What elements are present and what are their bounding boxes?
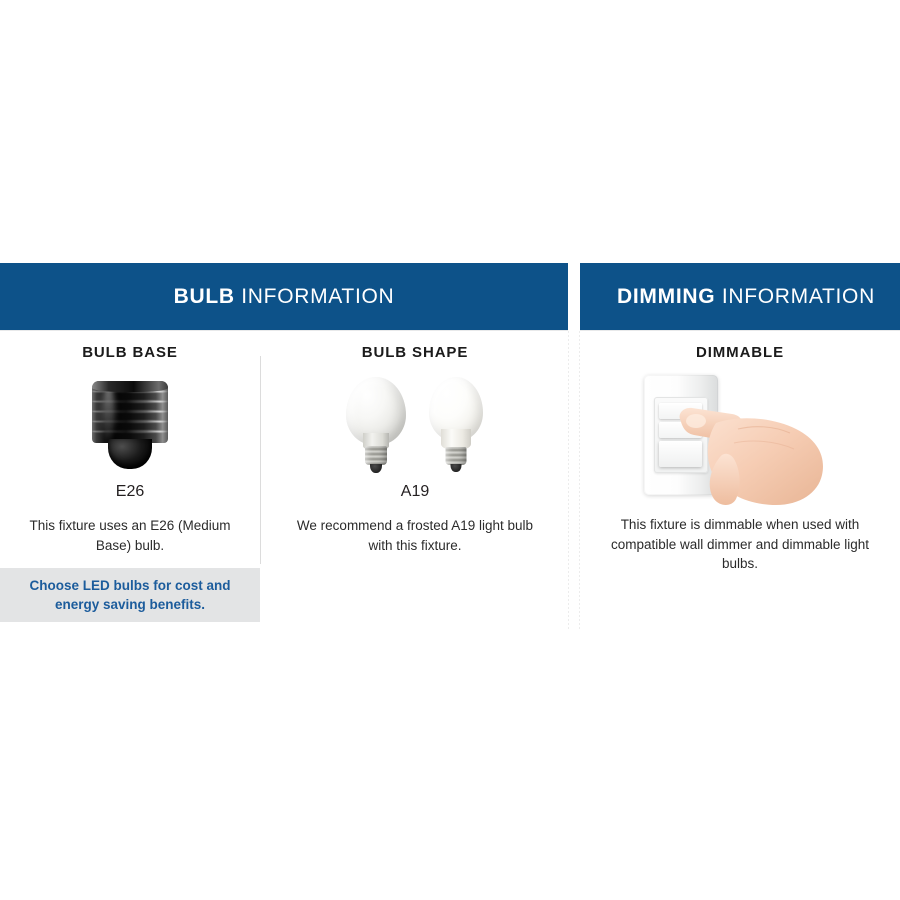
dimming-information-header: DIMMING INFORMATION — [580, 263, 900, 330]
bulb-base-code: E26 — [0, 483, 260, 501]
bulb-header-underline — [0, 330, 568, 331]
bulb-information-header-bold: BULB — [174, 285, 235, 308]
bulb-shape-description: We recommend a frosted A19 light bulb wi… — [290, 501, 540, 555]
bulb-base-column: BULB BASE E26 This fixture uses an E26 (… — [0, 344, 260, 555]
dimming-header-underline — [580, 330, 900, 331]
bulb-base-title: BULB BASE — [0, 344, 260, 361]
a19-bulb-pair-icon — [262, 377, 568, 473]
bulb-and-dimming-info-graphic: BULB INFORMATION DIMMING INFORMATION BUL… — [0, 0, 900, 900]
bulb-base-description: This fixture uses an E26 (Medium Base) b… — [23, 501, 238, 555]
dimmable-column: DIMMABLE — [580, 344, 900, 574]
panel-divider-left — [568, 331, 569, 631]
e26-screw-base-icon — [88, 381, 172, 469]
wall-dimmer-switch-with-hand-icon — [630, 373, 850, 503]
bulb-shape-code: A19 — [262, 483, 568, 501]
led-tip-box: Choose LED bulbs for cost and energy sav… — [0, 568, 260, 622]
bulb-information-header: BULB INFORMATION — [0, 263, 568, 330]
bulb-information-header-light: INFORMATION — [241, 285, 394, 308]
hand-pressing-icon — [676, 395, 836, 507]
dimmable-title: DIMMABLE — [580, 344, 900, 361]
dimming-information-header-text: DIMMING INFORMATION — [617, 285, 875, 309]
dimmable-description: This fixture is dimmable when used with … — [610, 503, 870, 574]
led-a19-bulb-icon — [427, 377, 485, 473]
led-tip-text: Choose LED bulbs for cost and energy sav… — [23, 576, 238, 614]
dimming-information-header-light: INFORMATION — [722, 285, 875, 308]
bulb-shape-title: BULB SHAPE — [262, 344, 568, 361]
bulb-shape-column: BULB SHAPE A19 We recommend a frosted A1… — [262, 344, 568, 555]
bulb-columns-divider — [260, 356, 261, 564]
incandescent-a19-bulb-icon — [345, 377, 407, 473]
bulb-information-header-text: BULB INFORMATION — [174, 285, 395, 309]
dimming-information-header-bold: DIMMING — [617, 285, 715, 308]
